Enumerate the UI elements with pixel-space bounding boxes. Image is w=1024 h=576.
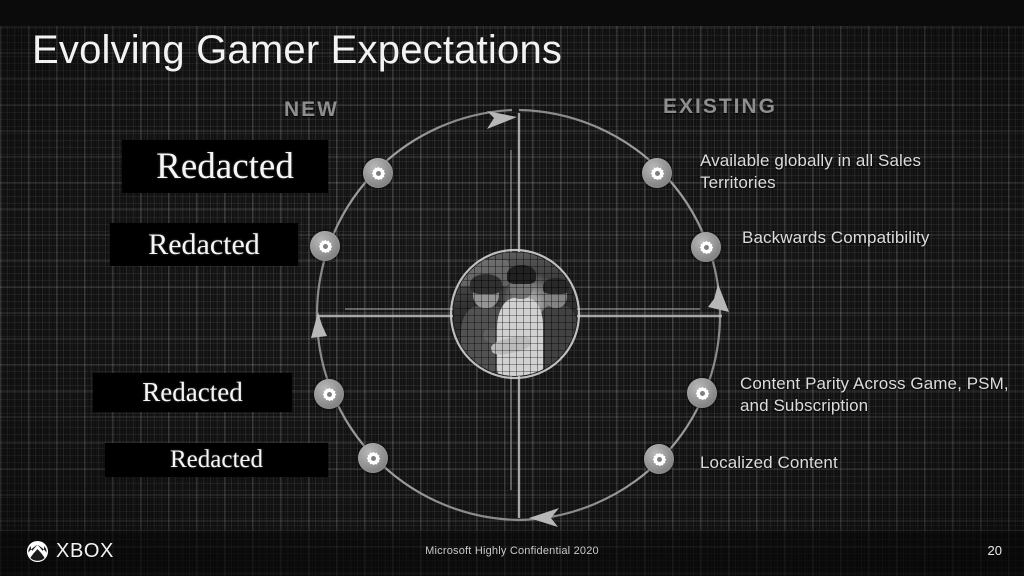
confidentiality-notice: Microsoft Highly Confidential 2020: [0, 545, 1024, 557]
gear-icon: [651, 451, 668, 468]
redacted-item-2: Redacted: [110, 223, 298, 266]
gear-icon: [698, 239, 715, 256]
page-title: Evolving Gamer Expectations: [32, 28, 562, 73]
existing-item-1: Available globally in all Sales Territor…: [700, 150, 950, 194]
slide-footer: XBOX Microsoft Highly Confidential 2020 …: [0, 530, 1024, 576]
gear-node-right-4[interactable]: [644, 444, 674, 474]
gear-icon: [321, 386, 338, 403]
gear-node-right-1[interactable]: [642, 158, 672, 188]
redacted-item-1: Redacted: [122, 140, 328, 193]
gear-icon: [649, 165, 666, 182]
gear-node-left-4[interactable]: [358, 443, 388, 473]
existing-item-3: Content Parity Across Game, PSM, and Sub…: [740, 373, 1010, 417]
column-header-existing: EXISTING: [663, 95, 777, 119]
background-top-band: [0, 0, 1024, 26]
redacted-item-4: Redacted: [105, 443, 328, 477]
gear-node-left-3[interactable]: [314, 379, 344, 409]
footer-divider: [0, 530, 1024, 531]
gear-node-right-2[interactable]: [691, 232, 721, 262]
gear-icon: [365, 450, 382, 467]
column-header-new: NEW: [284, 98, 339, 122]
gear-icon: [317, 238, 334, 255]
gear-node-left-2[interactable]: [310, 231, 340, 261]
existing-item-2: Backwards Compatibility: [742, 227, 962, 249]
gear-node-right-3[interactable]: [687, 378, 717, 408]
gear-icon: [370, 165, 387, 182]
slide-canvas: Evolving Gamer Expectations NEW EXISTING: [0, 0, 1024, 576]
gear-icon: [694, 385, 711, 402]
center-photo: [453, 252, 577, 376]
redacted-item-3: Redacted: [93, 373, 292, 412]
gear-node-left-1[interactable]: [363, 158, 393, 188]
existing-item-4: Localized Content: [700, 452, 950, 474]
page-number: 20: [988, 543, 1002, 558]
